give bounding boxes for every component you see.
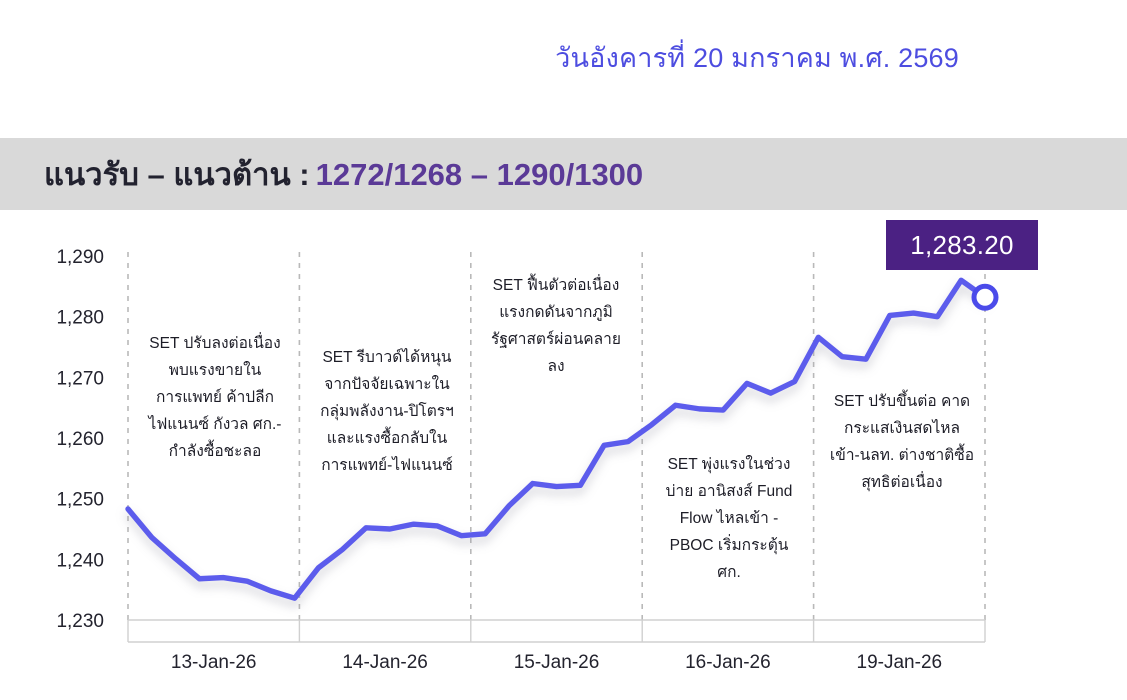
annotation-text: SET ปรับขึ้นต่อ คาดกระแสเงินสดไหลเข้า-นล… [830, 389, 974, 492]
annotation-line: สุทธิต่อเนื่อง [861, 471, 942, 492]
annotation-anno-4: SET พุ่งแรงในช่วงบ่าย อานิสงส์ FundFlow … [666, 455, 793, 581]
annotation-text: SET พุ่งแรงในช่วงบ่าย อานิสงส์ FundFlow … [666, 455, 793, 581]
annotation-line: SET ปรับขึ้นต่อ คาด [834, 389, 970, 410]
annotation-line: ศก. [717, 564, 741, 581]
chart-annotations: SET ปรับลงต่อเนื่องพบแรงขายในการแพทย์ ค้… [147, 273, 975, 581]
y-axis-tick-label: 1,270 [56, 368, 104, 389]
annotation-line: กลุ่มพลังงาน-ปิโตรฯ [320, 402, 454, 421]
support-resistance-title: แนวรับ – แนวต้าน :1272/1268 – 1290/1300 [0, 159, 643, 190]
last-point-marker [974, 286, 996, 308]
last-value-badge: 1,283.20 [886, 220, 1038, 270]
annotation-line: PBOC เริ่มกระตุ้น [670, 534, 789, 555]
annotation-anno-2: SET รีบาวด์ได้หนุนจากปัจจัยเฉพาะในกลุ่มพ… [320, 348, 454, 474]
annotation-line: SET พุ่งแรงในช่วง [668, 455, 791, 474]
annotation-anno-3: SET ฟื้นตัวต่อเนื่องแรงกดดันจากภูมิรัฐศา… [491, 273, 621, 375]
annotation-line: และแรงซื้อกลับใน [327, 426, 448, 447]
last-value-text: 1,283.20 [910, 230, 1014, 261]
annotation-line: กำลังซื้อชะลอ [169, 439, 262, 460]
annotation-line: SET ปรับลงต่อเนื่อง [149, 332, 280, 352]
y-axis-tick-label: 1,250 [56, 490, 104, 511]
annotation-line: กระแสเงินสดไหล [844, 419, 960, 437]
set-index-line-chart: 1,2301,2401,2501,2601,2701,2801,290 13-J… [0, 210, 1127, 700]
x-axis-tick-label: 13-Jan-26 [171, 652, 257, 673]
annotation-line: พบแรงขายใน [169, 361, 262, 379]
x-axis-tick-label: 19-Jan-26 [857, 652, 943, 673]
support-resistance-band: แนวรับ – แนวต้าน :1272/1268 – 1290/1300 [0, 138, 1127, 210]
annotation-line: SET ฟื้นตัวต่อเนื่อง [493, 273, 620, 294]
y-axis-tick-label: 1,230 [56, 611, 104, 632]
support-resistance-label: แนวรับ – แนวต้าน : [44, 157, 310, 192]
axis-baseline [128, 620, 985, 642]
annotation-text: SET ปรับลงต่อเนื่องพบแรงขายในการแพทย์ ค้… [147, 332, 282, 460]
annotation-line: แรงกดดันจากภูมิ [499, 304, 613, 322]
support-resistance-values: 1272/1268 – 1290/1300 [316, 157, 644, 192]
annotation-line: บ่าย อานิสงส์ Fund [666, 482, 793, 500]
annotation-text: SET รีบาวด์ได้หนุนจากปัจจัยเฉพาะในกลุ่มพ… [320, 348, 454, 474]
annotation-anno-1: SET ปรับลงต่อเนื่องพบแรงขายในการแพทย์ ค้… [147, 332, 282, 460]
annotation-line: จากปัจจัยเฉพาะใน [324, 375, 450, 393]
annotation-line: เข้า-นลท. ต่างชาติซื้อ [830, 443, 974, 464]
x-axis-tick-label: 14-Jan-26 [342, 652, 428, 673]
y-axis-tick-label: 1,280 [56, 308, 104, 329]
series-line-group [128, 280, 996, 598]
y-axis-ticks: 1,2301,2401,2501,2601,2701,2801,290 [56, 247, 104, 632]
annotation-line: การแพทย์ ค้าปลีก [156, 388, 274, 406]
y-axis-tick-label: 1,240 [56, 550, 104, 571]
y-axis-tick-label: 1,260 [56, 429, 104, 450]
annotation-text: SET ฟื้นตัวต่อเนื่องแรงกดดันจากภูมิรัฐศา… [491, 273, 621, 375]
annotation-line: SET รีบาวด์ได้หนุน [322, 348, 451, 367]
annotation-anno-5: SET ปรับขึ้นต่อ คาดกระแสเงินสดไหลเข้า-นล… [830, 389, 974, 492]
x-axis-tick-label: 16-Jan-26 [685, 652, 771, 673]
annotation-line: ลง [547, 358, 564, 375]
annotation-line: รัฐศาสตร์ผ่อนคลาย [491, 330, 621, 348]
y-axis-tick-label: 1,290 [56, 247, 104, 268]
date-header: วันอังคารที่ 20 มกราคม พ.ศ. 2569 [555, 36, 959, 79]
x-axis-tick-label: 15-Jan-26 [514, 652, 600, 673]
annotation-line: ไฟแนนซ์ กังวล ศก.- [147, 415, 282, 433]
series-line-set-index [128, 280, 985, 598]
annotation-line: การแพทย์-ไฟแนนซ์ [321, 456, 453, 474]
chart-container: 1,2301,2401,2501,2601,2701,2801,290 13-J… [0, 210, 1127, 700]
annotation-line: Flow ไหลเข้า - [680, 509, 779, 527]
x-axis-ticks: 13-Jan-2614-Jan-2615-Jan-2616-Jan-2619-J… [171, 652, 942, 673]
